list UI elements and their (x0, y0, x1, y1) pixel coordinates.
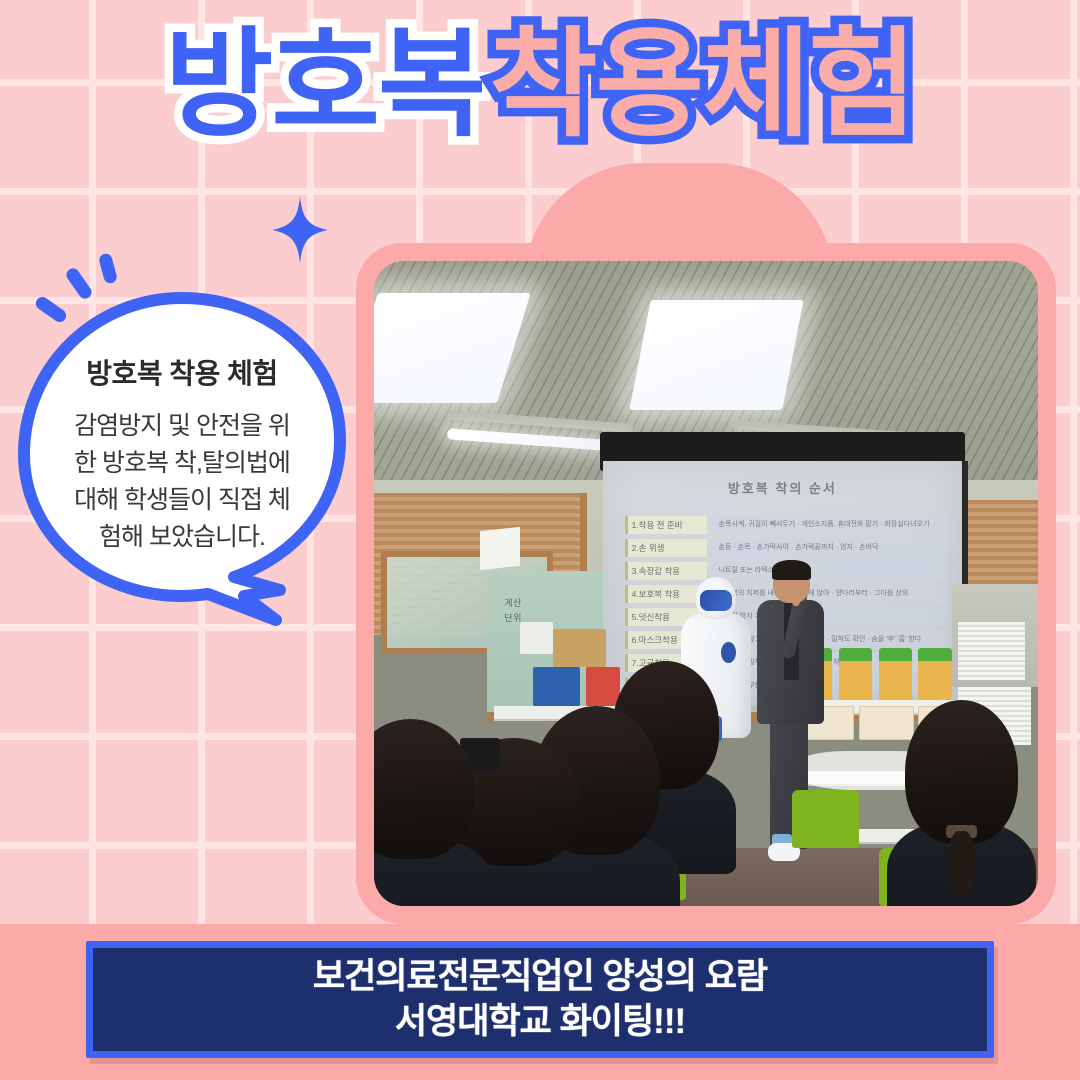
title-part-1: 방호복 (165, 19, 485, 151)
table-item-box-wood (553, 629, 606, 668)
chair-2 (792, 790, 858, 848)
ponytail (948, 831, 975, 897)
slide-step: 1.착용 전 준비 (625, 516, 707, 534)
slide-row: 2.손 위생 손등 · 손목 · 손가락사이 · 손가락끝까지 · 엄지 · 손… (625, 538, 948, 559)
student-1 (374, 719, 474, 906)
table-item-box-blue (533, 667, 579, 706)
photo-frame: 게산단위 방호복 착의 순서 1.착용 전 준비 손목시계, 귀걸이 빼서두기 … (356, 243, 1056, 924)
banner-line-2: 서영대학교 화이팅!!! (395, 1000, 685, 1044)
wall-paper-1 (480, 527, 520, 570)
speech-bubble-heading: 방호복 착용 체험 (42, 352, 322, 392)
slide-row: 1.착용 전 준비 손목시계, 귀걸이 빼서두기 · 개인소지품, 휴대전화 맡… (625, 515, 948, 536)
title-part-2: 착용체험 (489, 19, 915, 151)
slide-step: 2.손 위생 (625, 539, 707, 557)
student-hair (374, 719, 474, 859)
student-hair (905, 700, 1018, 845)
speech-bubble-body: 감염방지 및 안전을 위 한 방호복 착,탈의법에 대해 학생들이 직접 체 험… (42, 408, 322, 556)
page-title: 방호복 착용체험 (0, 12, 1080, 160)
speech-bubble-content: 방호복 착용 체험 감염방지 및 안전을 위 한 방호복 착,탈의법에 대해 학… (42, 352, 322, 556)
poster-canvas: 방호복 착용체험 방호복 착용 체험 감염방지 및 안전을 위 한 방호복 착,… (0, 0, 1080, 1080)
suit-visor (700, 590, 732, 611)
sparkle-icon (272, 196, 328, 264)
banner-line-1: 보건의료전문직업인 양성의 요람 (313, 955, 767, 999)
paper-stack-1 (958, 622, 1024, 680)
student-5 (905, 700, 1018, 906)
ceiling-light-panel-2 (629, 300, 803, 410)
display-item-4 (918, 661, 951, 700)
bubble-line-2: 한 방호복 착,탈의법에 (42, 445, 322, 482)
bubble-line-4: 험해 보았습니다. (42, 519, 322, 556)
slide-detail: 손목시계, 귀걸이 빼서두기 · 개인소지품, 휴대전화 맡기 · 화장실다녀오… (713, 516, 948, 534)
suit-badge (721, 642, 736, 663)
table-item-paper (520, 622, 553, 654)
bottom-banner: 보건의료전문직업인 양성의 요람 서영대학교 화이팅!!! (86, 941, 994, 1058)
bubble-line-3: 대해 학생들이 직접 체 (42, 482, 322, 519)
photo-scene: 게산단위 방호복 착의 순서 1.착용 전 준비 손목시계, 귀걸이 빼서두기 … (374, 261, 1038, 906)
board-writing: 게산단위 (504, 596, 522, 626)
classroom-photo: 게산단위 방호복 착의 순서 1.착용 전 준비 손목시계, 귀걸이 빼서두기 … (374, 261, 1038, 906)
display-item-2 (839, 661, 872, 700)
bubble-line-1: 감염방지 및 안전을 위 (42, 408, 322, 445)
instructor-hair (772, 560, 812, 581)
slide-detail: 손등 · 손목 · 손가락사이 · 손가락끝까지 · 엄지 · 손바닥 (713, 539, 948, 557)
speech-bubble: 방호복 착용 체험 감염방지 및 안전을 위 한 방호복 착,탈의법에 대해 학… (8, 290, 356, 640)
display-item-3 (879, 661, 912, 700)
slide-title: 방호복 착의 순서 (603, 478, 962, 497)
